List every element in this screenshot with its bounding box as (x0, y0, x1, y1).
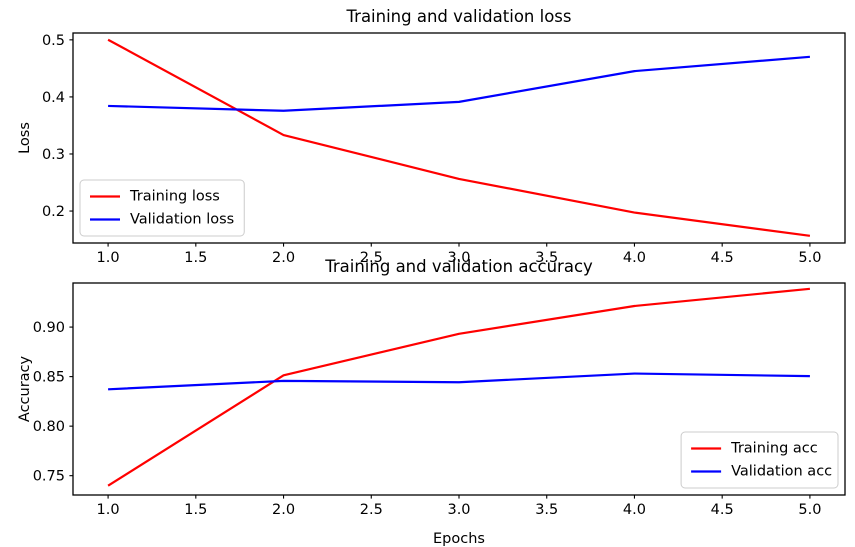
x-tick-label: 4.5 (711, 250, 734, 266)
x-tick-label: 1.5 (184, 502, 207, 518)
x-tick-label: 1.5 (184, 250, 207, 266)
legend: Training lossValidation loss (80, 180, 244, 236)
x-tick-label: 2.0 (272, 502, 295, 518)
axes-accuracy: Training and validation accuracy1.01.52.… (17, 257, 845, 547)
y-axis-label: Accuracy (17, 355, 33, 422)
y-axis-label: Loss (17, 122, 33, 154)
matplotlib-figure: Training and validation loss1.01.52.02.5… (0, 0, 855, 547)
y-tick-label: 0.5 (42, 33, 65, 49)
axes-loss: Training and validation loss1.01.52.02.5… (17, 7, 845, 266)
legend-label: Validation acc (731, 464, 832, 480)
x-tick-label: 4.0 (623, 250, 646, 266)
series-line-validation-acc (108, 374, 810, 390)
x-tick-label: 1.0 (97, 502, 120, 518)
x-tick-label: 4.5 (711, 502, 734, 518)
x-axis-label: Epochs (433, 531, 485, 547)
x-tick-label: 1.0 (97, 250, 120, 266)
y-tick-label: 0.75 (33, 469, 65, 485)
plot-title: Training and validation accuracy (324, 257, 593, 276)
legend-label: Training loss (129, 189, 220, 205)
legend-label: Training acc (730, 441, 818, 457)
y-tick-label: 0.2 (42, 204, 65, 220)
y-tick-label: 0.3 (42, 147, 65, 163)
plot-title: Training and validation loss (346, 7, 572, 26)
x-tick-label: 4.0 (623, 502, 646, 518)
legend: Training accValidation acc (681, 432, 838, 488)
x-tick-label: 2.5 (360, 502, 383, 518)
figure-canvas: Training and validation loss1.01.52.02.5… (0, 0, 855, 547)
x-tick-label: 3.0 (447, 502, 470, 518)
x-tick-label: 3.5 (535, 502, 558, 518)
series-line-validation-loss (108, 57, 810, 111)
y-tick-label: 0.85 (33, 370, 65, 386)
legend-label: Validation loss (130, 212, 234, 228)
x-tick-label: 2.0 (272, 250, 295, 266)
x-tick-label: 5.0 (798, 502, 821, 518)
y-tick-label: 0.80 (33, 419, 65, 435)
y-tick-label: 0.4 (42, 90, 65, 106)
y-tick-label: 0.90 (33, 320, 65, 336)
x-tick-label: 5.0 (798, 250, 821, 266)
